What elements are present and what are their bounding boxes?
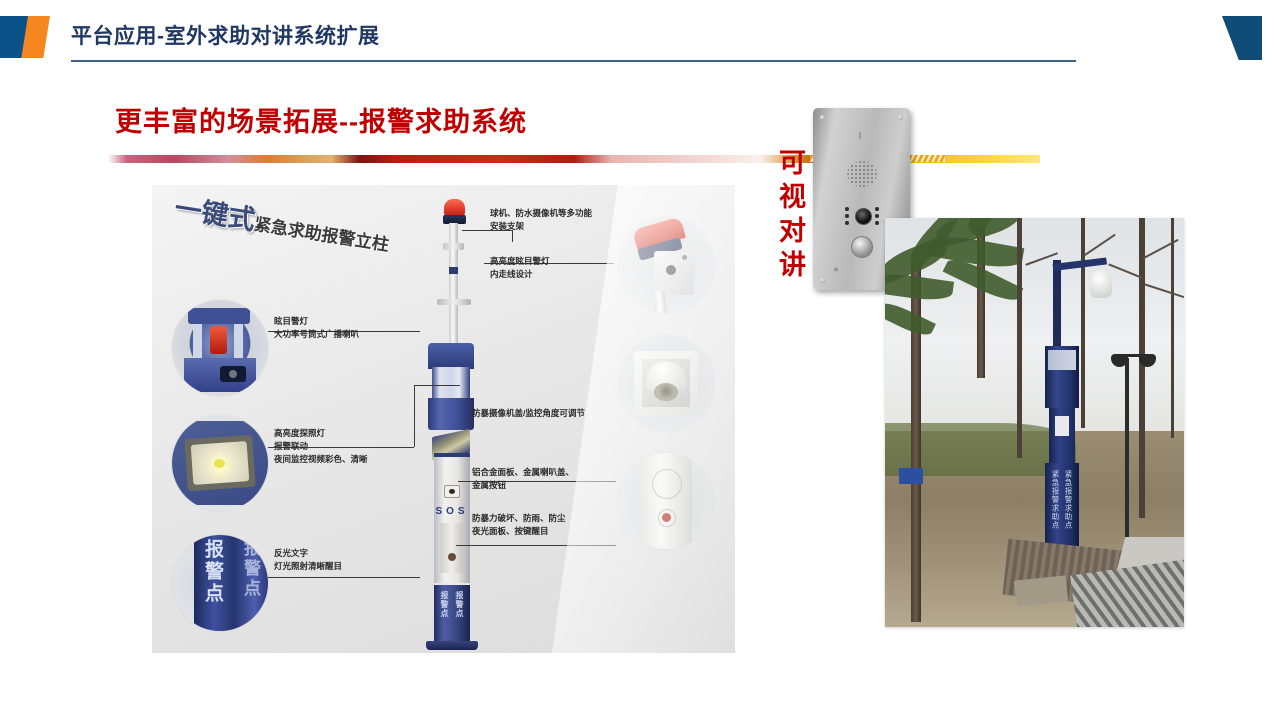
tree-sign-icon [899,468,923,484]
base-text-group: 报警点 报警点 [437,591,467,618]
ir-led-icon [845,214,849,218]
pillar-cap [428,343,474,369]
beacon-light-icon [444,199,465,216]
pillar-collar [428,398,474,430]
mic-hole-icon [859,132,861,139]
camera-lens-icon [855,208,872,225]
vertical-label-video-intercom: 可视对讲 [762,148,804,284]
leader-line [268,577,420,578]
photo-pillar-plate [1055,416,1069,436]
ir-led-icon [875,207,879,211]
pillar-foot-plate [426,641,478,650]
reflective-text-photo: 报警点 报警点 [172,535,268,631]
screw-icon [820,278,825,283]
ir-led-icon [875,214,879,218]
photo-pillar-text-right: 紧急报警求助点 [1063,470,1074,530]
photo-pillar-window [1048,350,1076,370]
street-lamp-pole [1125,358,1129,558]
annotation-panel-material: 铝合金面板、金属喇叭盖、 金属按钮 [472,466,574,492]
base-text-left: 报警点 [439,591,450,618]
page-title: 平台应用-室外求助对讲系统扩展 [71,20,380,50]
call-button-icon[interactable] [851,236,873,258]
bare-tree [1081,218,1085,428]
street-lamp-arm [1115,354,1147,357]
mast-band [449,267,458,274]
call-glyph-icon: ✳ [833,266,839,274]
camera-cover-icon [444,485,460,498]
base-text-right: 报警点 [454,591,465,618]
annotation-camera-cover: 防暴摄像机盖/监控角度可调节 [472,407,585,420]
speaker-grille-icon [842,156,882,192]
call-panel-photo [618,453,714,549]
leader-line [456,545,616,546]
beacon-bracket-photo [618,217,714,313]
pillar-lantern [432,367,470,399]
diagram-title-rest: 紧急求助报警立柱 [253,215,390,255]
annotation-vandal-proof: 防暴力破坏、防雨、防尘 夜光面板、按键醒目 [472,512,566,538]
floodlight-photo [172,415,268,511]
photo-pillar-text-left: 紧急报警求助点 [1050,470,1061,530]
slide: 平台应用-室外求助对讲系统扩展 更丰富的场景拓展--报警求助系统 可视对讲 一键… [0,0,1280,720]
annotation-warning-light: 眩目警灯 大功率号筒式广播喇叭 [274,315,359,341]
bare-tree [1171,218,1174,438]
mount-bracket-upper [443,243,464,250]
ir-led-icon [845,221,849,225]
mount-bracket-lower [437,299,471,305]
leader-line [414,385,415,447]
ir-led-icon [845,207,849,211]
corner-deco-icon [1222,16,1262,60]
ir-led-icon [875,221,879,225]
paving-stone [1014,575,1068,606]
screw-icon [898,115,903,120]
annotation-mount-bracket: 球机、防水摄像机等多功能 安装支架 [490,207,592,233]
annotation-beacon-light: 高亮度眩目警灯 内走线设计 [490,255,550,281]
emergency-button-icon [448,553,456,561]
bare-tree [1139,218,1145,518]
mast-pole [449,223,458,343]
diagram-title-emphasis: 一键式 [173,193,258,235]
bare-tree [1017,218,1022,458]
title-divider [71,60,1076,62]
sos-label: SOS [434,505,470,519]
screw-icon [820,115,825,120]
leader-line [414,385,460,386]
diagram-title: 一键式紧急求助报警立柱 [172,186,392,258]
annotation-floodlight: 高亮度探照灯 报警联动 夜间监控视频彩色、清晰 [274,427,368,467]
outdoor-installation-photo: 紧急报警求助点 紧急报警求助点 [885,218,1184,627]
dome-camera-photo [618,335,714,431]
photo-pillar-text-group: 紧急报警求助点 紧急报警求助点 [1049,470,1075,530]
call-panel [440,523,463,573]
product-diagram: 一键式紧急求助报警立柱 紧急求助 SOS [152,185,735,653]
photo-dome-camera-icon [1090,270,1112,298]
section-heading: 更丰富的场景拓展--报警求助系统 [115,100,527,139]
warning-light-housing-photo [172,300,268,396]
camera-module [843,204,881,226]
annotation-reflective-text: 反光文字 灯光照射清晰醒目 [274,547,342,573]
